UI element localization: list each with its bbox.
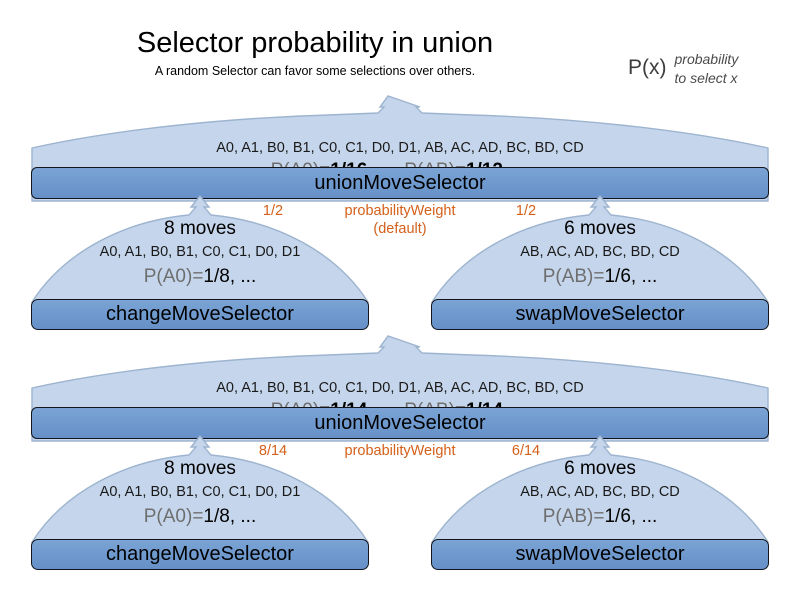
child-moves-count-change-weighted: 8 moves <box>28 458 372 480</box>
child-bar-swap-weighted[interactable]: swapMoveSelector <box>431 539 769 570</box>
union-bar-default[interactable]: unionMoveSelector <box>31 167 769 199</box>
page-title: Selector probability in union <box>0 26 630 60</box>
child-probability-change-default: P(A0)=1/8, ... <box>28 266 372 288</box>
child-probability-swap-default: P(AB)=1/6, ... <box>428 266 772 288</box>
child-prob-value-swap-weighted: 1/6, ... <box>604 506 657 527</box>
child-cloud-shape-change-weighted <box>28 436 372 542</box>
child-bar-change-weighted[interactable]: changeMoveSelector <box>31 539 369 570</box>
child-probability-swap-weighted: P(AB)=1/6, ... <box>428 506 772 528</box>
child-cloud-shape-swap-default <box>428 196 772 302</box>
child-prob-prefix-swap-weighted: P(AB)= <box>543 506 605 527</box>
child-prob-value-swap-default: 1/6, ... <box>604 266 657 287</box>
child-node-swap-weighted: 6 moves AB, AC, AD, BC, BD, CD P(AB)=1/6… <box>428 436 772 542</box>
union-moves-list-default: A0, A1, B0, B1, C0, C1, D0, D1, AB, AC, … <box>28 140 772 156</box>
child-moves-count-swap-weighted: 6 moves <box>428 458 772 480</box>
page-subtitle: A random Selector can favor some selecti… <box>0 64 630 78</box>
union-bar-weighted[interactable]: unionMoveSelector <box>31 407 769 439</box>
legend-line-2: to select x <box>675 69 739 88</box>
child-node-swap-default: 6 moves AB, AC, AD, BC, BD, CD P(AB)=1/6… <box>428 196 772 302</box>
child-cloud-shape-swap-weighted <box>428 436 772 542</box>
child-moves-list-change-weighted: A0, A1, B0, B1, C0, C1, D0, D1 <box>28 484 372 500</box>
child-bar-label-swap-weighted: swapMoveSelector <box>516 543 685 566</box>
child-prob-prefix-swap-default: P(AB)= <box>543 266 605 287</box>
legend-description: probability to select x <box>675 50 739 88</box>
legend-line-1: probability <box>675 50 739 69</box>
child-moves-count-swap-default: 6 moves <box>428 218 772 240</box>
union-moves-list-weighted: A0, A1, B0, B1, C0, C1, D0, D1, AB, AC, … <box>28 380 772 396</box>
union-bar-label-default: unionMoveSelector <box>314 172 485 195</box>
child-moves-count-change-default: 8 moves <box>28 218 372 240</box>
child-bar-label-swap-default: swapMoveSelector <box>516 303 685 326</box>
child-moves-list-swap-default: AB, AC, AD, BC, BD, CD <box>428 244 772 260</box>
child-bar-label-change-weighted: changeMoveSelector <box>106 543 294 566</box>
child-bar-label-change-default: changeMoveSelector <box>106 303 294 326</box>
child-probability-change-weighted: P(A0)=1/8, ... <box>28 506 372 528</box>
legend: P(x) probability to select x <box>628 50 738 88</box>
legend-symbol: P(x) <box>628 50 667 80</box>
child-bar-swap-default[interactable]: swapMoveSelector <box>431 299 769 330</box>
child-prob-value-change-weighted: 1/8, ... <box>203 506 256 527</box>
child-bar-change-default[interactable]: changeMoveSelector <box>31 299 369 330</box>
diagram-header: Selector probability in union A random S… <box>0 0 800 96</box>
child-node-change-weighted: 8 moves A0, A1, B0, B1, C0, C1, D0, D1 P… <box>28 436 372 542</box>
child-cloud-shape-change-default <box>28 196 372 302</box>
child-node-change-default: 8 moves A0, A1, B0, B1, C0, C1, D0, D1 P… <box>28 196 372 302</box>
child-prob-value-change-default: 1/8, ... <box>203 266 256 287</box>
union-bar-label-weighted: unionMoveSelector <box>314 412 485 435</box>
child-moves-list-change-default: A0, A1, B0, B1, C0, C1, D0, D1 <box>28 244 372 260</box>
child-prob-prefix-change-weighted: P(A0)= <box>144 506 204 527</box>
child-prob-prefix-change-default: P(A0)= <box>144 266 204 287</box>
child-moves-list-swap-weighted: AB, AC, AD, BC, BD, CD <box>428 484 772 500</box>
